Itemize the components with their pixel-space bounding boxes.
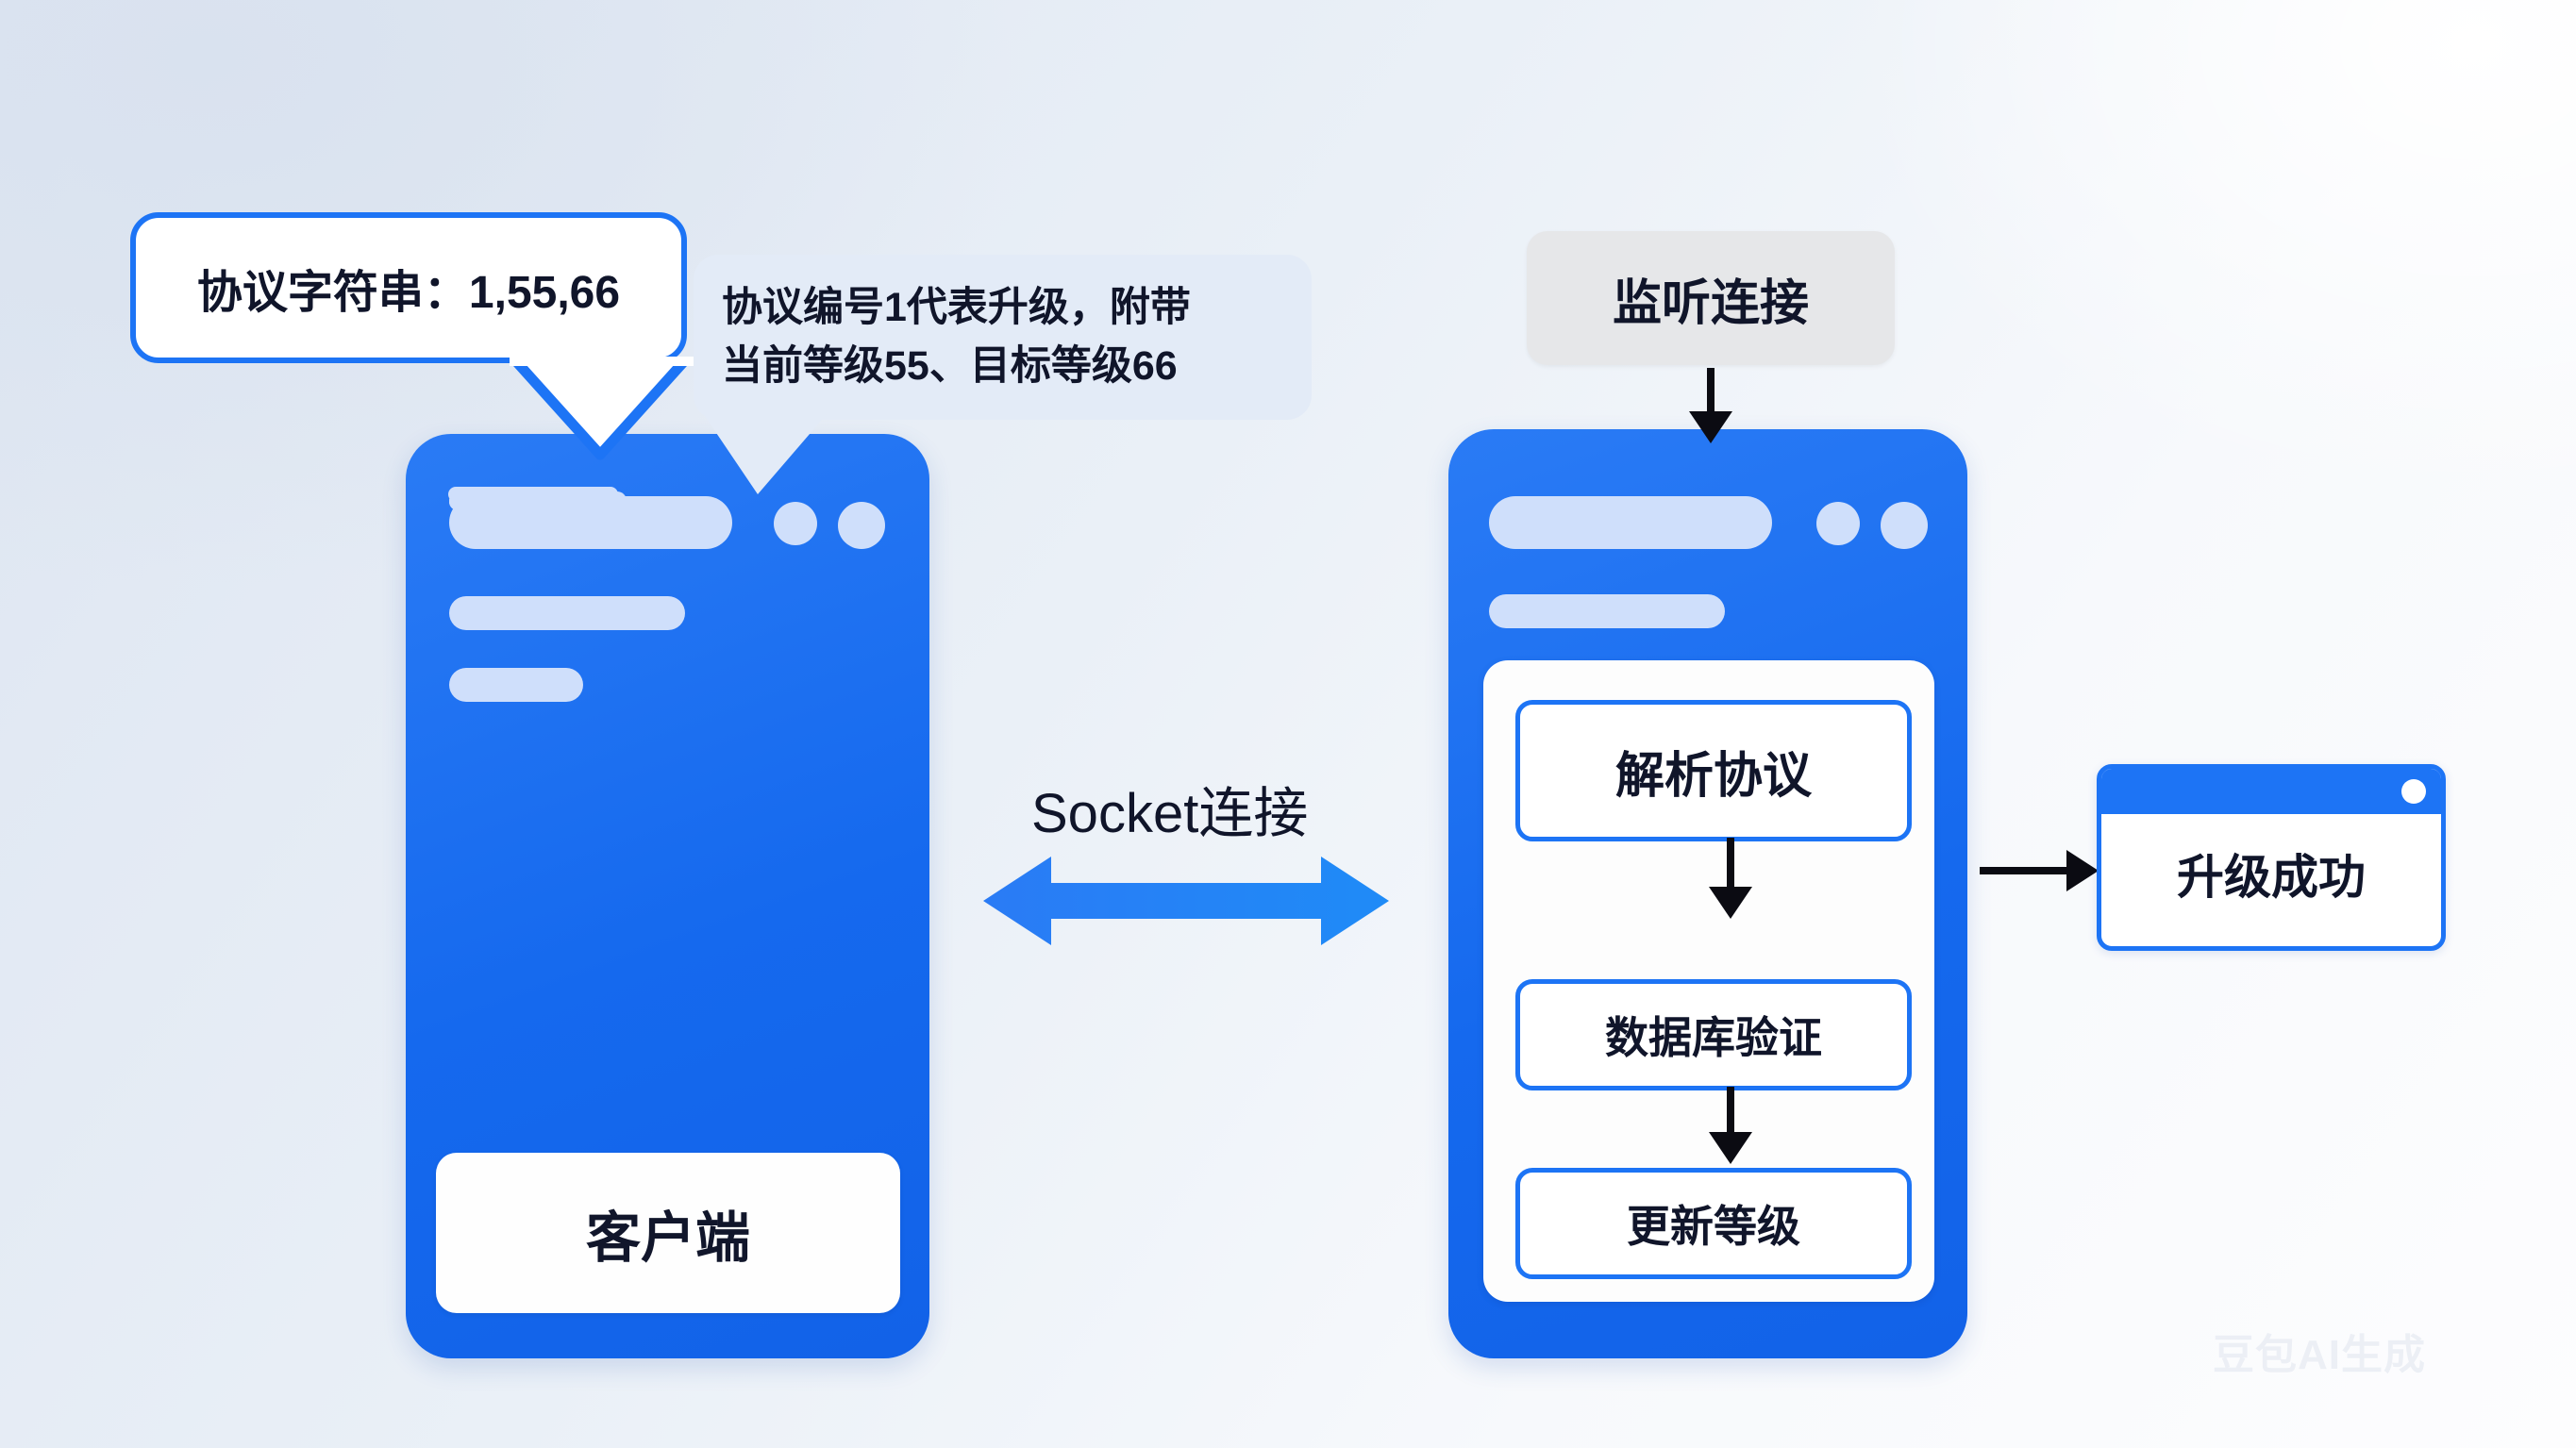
client-bar-2 xyxy=(449,596,685,630)
server-step-update-level[interactable]: 更新等级 xyxy=(1515,1168,1912,1279)
bubble-protocol-explain-line1: 协议编号1代表升级，附带 xyxy=(722,279,1191,337)
server-bar-2 xyxy=(1489,594,1725,628)
bubble-protocol-explain-tail xyxy=(703,413,845,498)
bubble-protocol-string-tail xyxy=(510,357,698,460)
client-dot-2 xyxy=(838,502,885,549)
server-dot-1 xyxy=(1816,502,1860,545)
client-dot-1 xyxy=(774,502,817,545)
server-step-db-verify-label: 数据库验证 xyxy=(1605,1004,1822,1066)
result-card-close-dot-icon[interactable] xyxy=(2401,779,2426,804)
socket-connection-text: Socket连接 xyxy=(1031,783,1308,844)
server-step-update-level-label: 更新等级 xyxy=(1627,1192,1800,1255)
result-card-upgrade-success[interactable]: 升级成功 xyxy=(2097,764,2446,951)
server-step-db-verify[interactable]: 数据库验证 xyxy=(1515,979,1912,1090)
arrow-parse-to-db xyxy=(1709,838,1752,919)
result-card-label: 升级成功 xyxy=(2177,840,2366,907)
watermark: 豆包AI生成 xyxy=(2213,1321,2426,1381)
server-dot-2 xyxy=(1881,502,1928,549)
client-label-text: 客户端 xyxy=(586,1193,750,1273)
arrow-db-to-update xyxy=(1709,1087,1752,1164)
bubble-protocol-string-text: 协议字符串：1,55,66 xyxy=(197,255,620,321)
client-label-card: 客户端 xyxy=(436,1153,900,1313)
listen-connection-label: 监听连接 xyxy=(1613,263,1809,334)
server-step-parse-protocol-label: 解析协议 xyxy=(1615,736,1812,807)
server-step-parse-protocol[interactable]: 解析协议 xyxy=(1515,700,1912,841)
bubble-protocol-explain: 协议编号1代表升级，附带 当前等级55、目标等级66 xyxy=(694,255,1312,420)
diagram-canvas: 客户端 解析协议 数据库验证 更新等级 监听连接 协议字符串：1,55,66 xyxy=(0,0,2576,1448)
server-bar-1 xyxy=(1489,496,1772,549)
bubble-protocol-string: 协议字符串：1,55,66 xyxy=(130,212,687,363)
arrow-listen-to-server xyxy=(1689,368,1732,445)
result-card-body: 升级成功 xyxy=(2101,814,2441,933)
client-bar-1 xyxy=(449,496,732,549)
socket-double-arrow xyxy=(983,849,1389,953)
result-card-titlebar xyxy=(2101,769,2441,814)
arrow-server-to-result xyxy=(1980,849,2100,892)
listen-connection-pill: 监听连接 xyxy=(1527,231,1895,365)
bubble-protocol-explain-line2: 当前等级55、目标等级66 xyxy=(722,338,1178,395)
watermark-text: 豆包AI生成 xyxy=(2213,1332,2426,1378)
client-bar-3 xyxy=(449,668,583,702)
socket-connection-label: Socket连接 xyxy=(1031,769,1308,848)
